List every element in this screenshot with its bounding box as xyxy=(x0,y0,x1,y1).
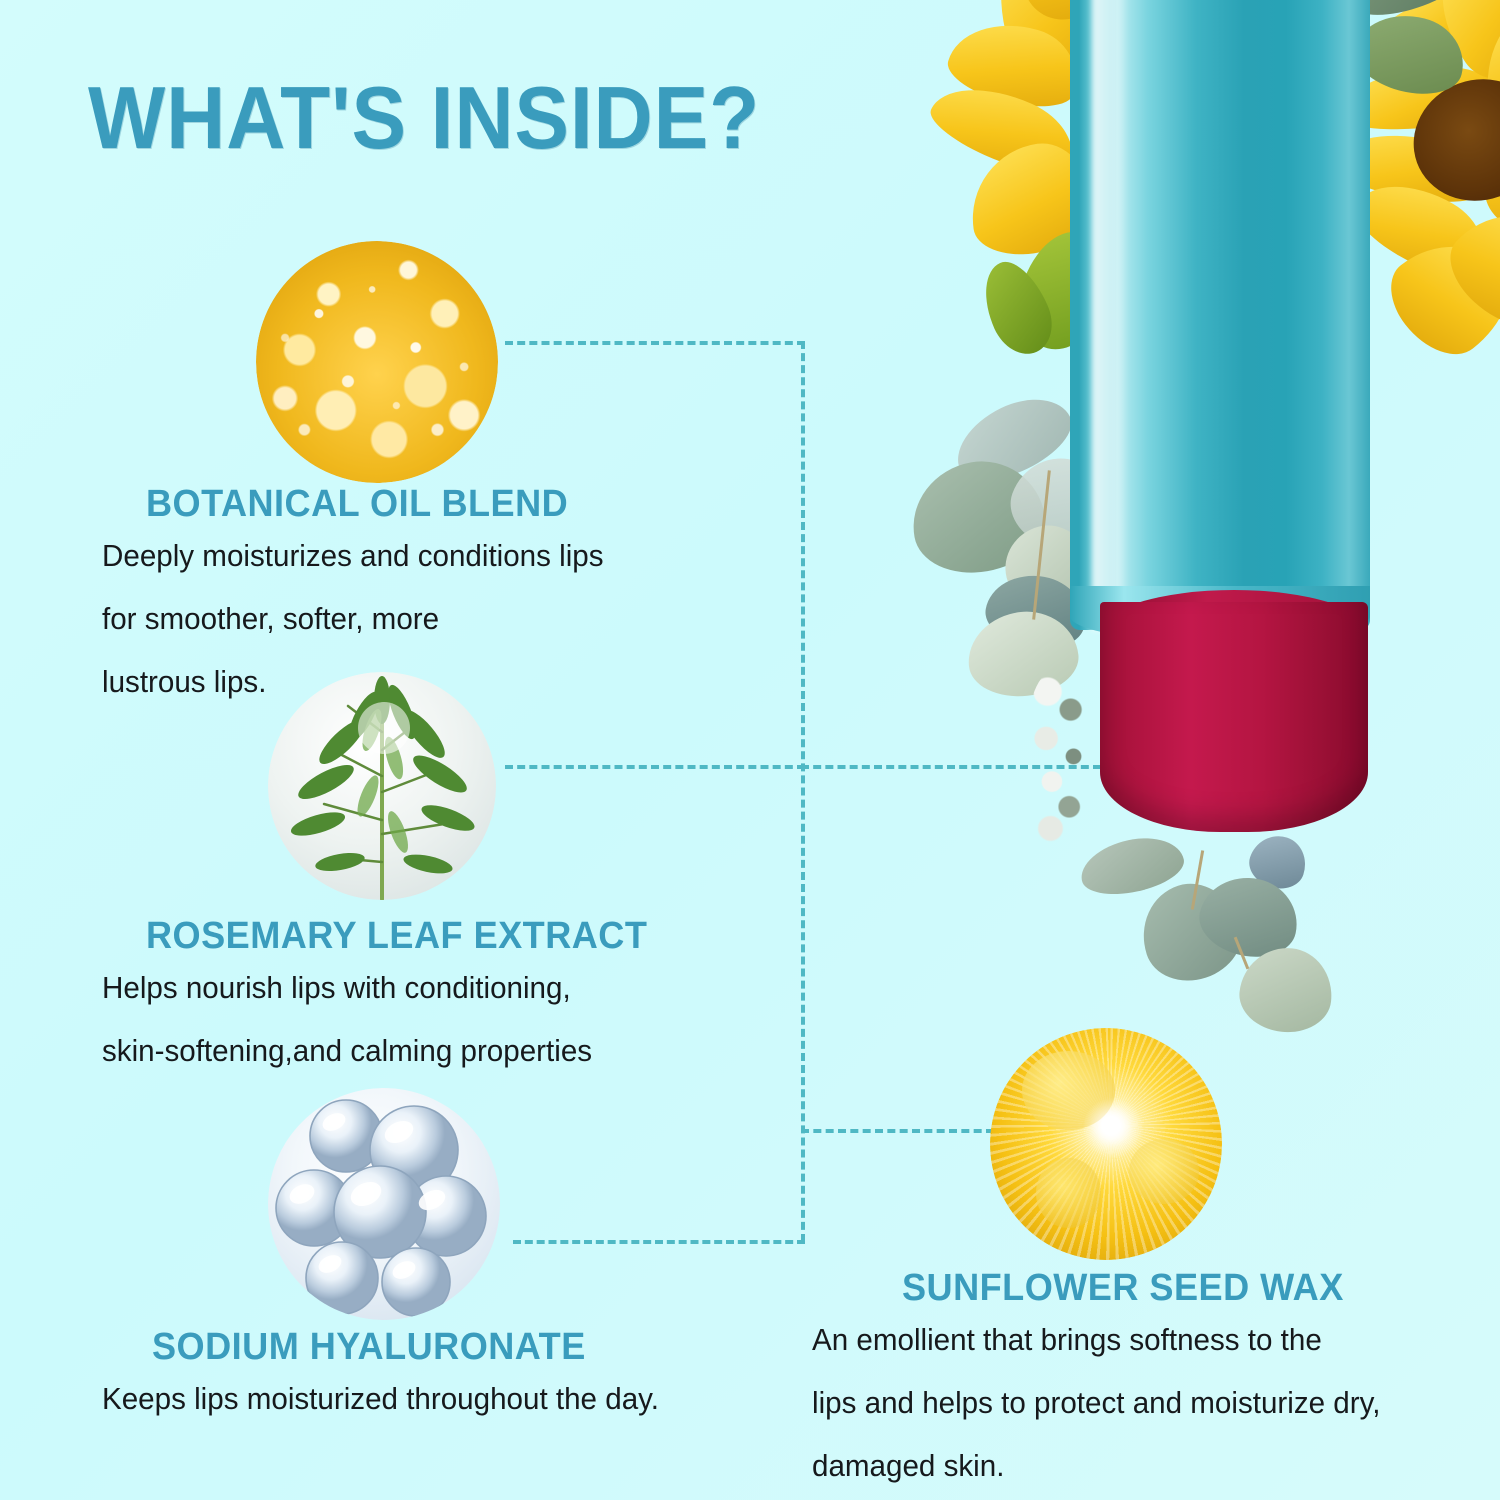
connector-branch-rosemary xyxy=(505,765,805,769)
tube-highlight xyxy=(1092,0,1126,630)
ingredient-icon-sodium-hyaluronate xyxy=(268,1088,500,1320)
ingredient-line: lips and helps to protect and moisturize… xyxy=(812,1372,1380,1435)
rosemary-sprig-graphic xyxy=(268,672,496,900)
ingredient-body-sodium-hyaluronate: Keeps lips moisturized throughout the da… xyxy=(102,1368,659,1431)
ingredient-icon-sunflower-seed-wax xyxy=(990,1028,1222,1260)
lip-balm-tube xyxy=(1070,0,1370,690)
ingredient-line: Helps nourish lips with conditioning, xyxy=(102,957,592,1020)
connector-branch-wax xyxy=(801,1129,994,1133)
ingredient-line: damaged skin. xyxy=(812,1435,1380,1498)
tube-cap xyxy=(1100,602,1368,832)
ingredient-line: Keeps lips moisturized throughout the da… xyxy=(102,1368,659,1431)
ingredient-icon-rosemary-leaf-extract xyxy=(268,672,496,900)
ingredient-body-rosemary-leaf-extract: Helps nourish lips with conditioning, sk… xyxy=(102,957,592,1083)
page-title: WHAT'S INSIDE? xyxy=(88,74,760,162)
connector-branch-oil xyxy=(505,341,805,345)
ingredient-body-sunflower-seed-wax: An emollient that brings softness to the… xyxy=(812,1309,1380,1498)
water-droplets-graphic xyxy=(268,1088,500,1320)
ingredient-line: skin-softening,and calming properties xyxy=(102,1020,592,1083)
ingredient-heading-rosemary-leaf-extract: ROSEMARY LEAF EXTRACT xyxy=(146,915,647,958)
ingredient-heading-botanical-oil-blend: BOTANICAL OIL BLEND xyxy=(146,483,568,526)
ingredient-line: for smoother, softer, more xyxy=(102,588,604,651)
ingredient-line: Deeply moisturizes and conditions lips xyxy=(102,525,604,588)
ingredient-heading-sunflower-seed-wax: SUNFLOWER SEED WAX xyxy=(902,1267,1344,1310)
ingredient-line: An emollient that brings softness to the xyxy=(812,1309,1380,1372)
connector-branch-hyaluronate xyxy=(513,1240,805,1244)
ingredient-icon-botanical-oil-blend xyxy=(256,241,498,483)
infographic-canvas: WHAT'S INSIDE? xyxy=(0,0,1500,1500)
connector-spine xyxy=(801,341,805,1242)
ingredient-heading-sodium-hyaluronate: SODIUM HYALURONATE xyxy=(152,1326,586,1369)
